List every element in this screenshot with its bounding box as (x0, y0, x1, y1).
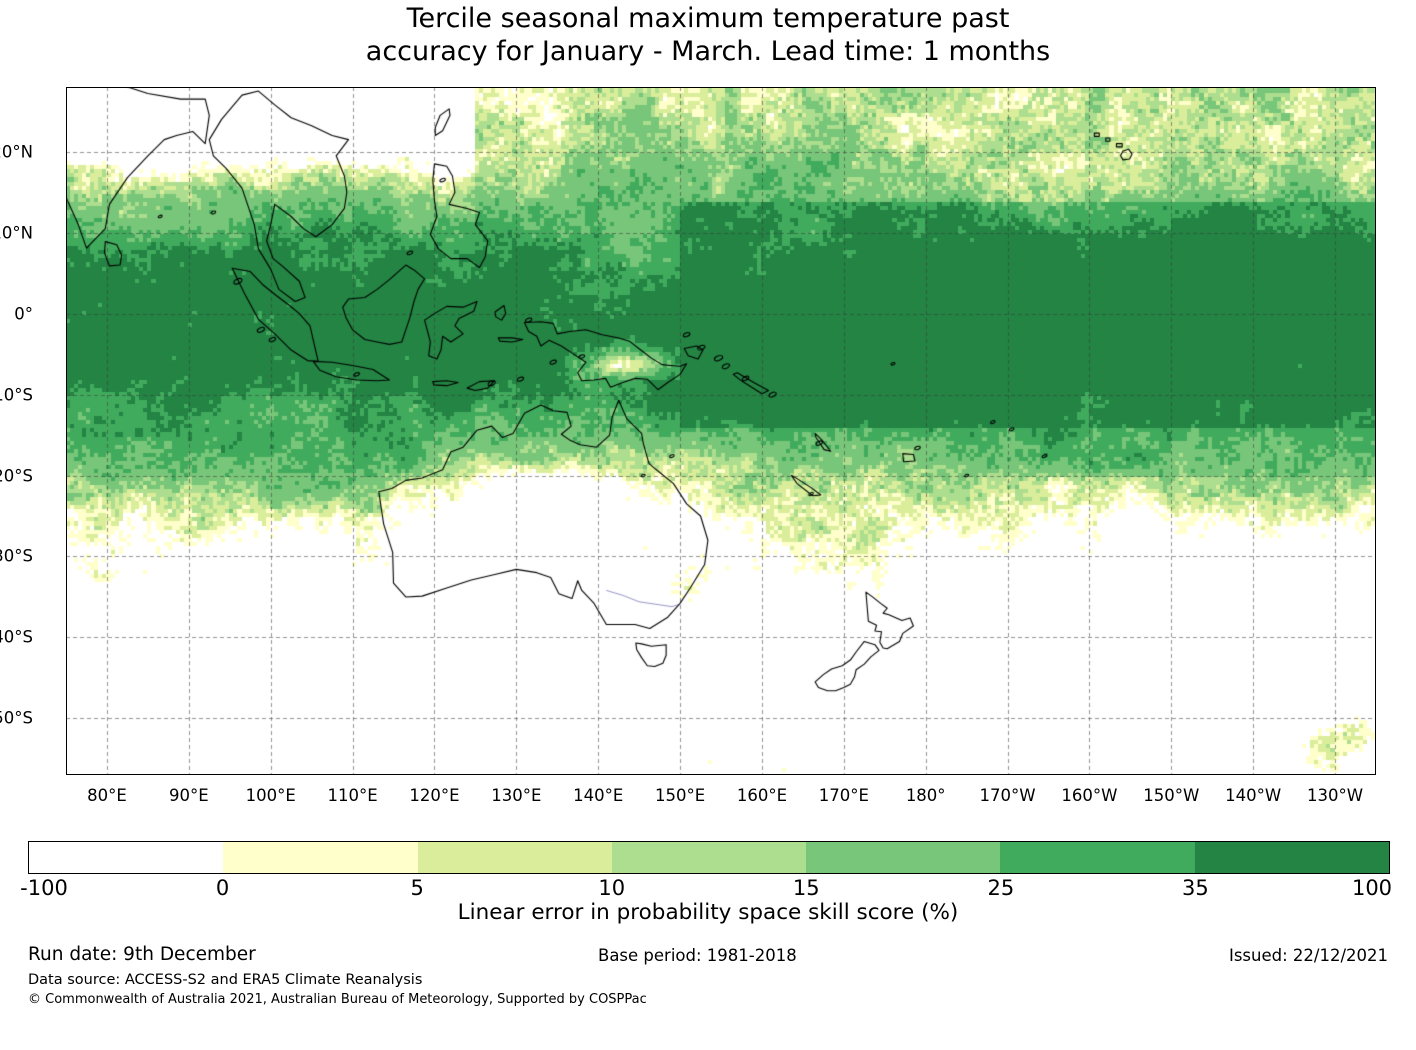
colorbar-band (223, 842, 417, 873)
map-plot-area (66, 87, 1376, 775)
colorbar-band (1195, 842, 1389, 873)
colorbar (28, 841, 1390, 874)
lon-tick-label: 100°E (246, 786, 296, 805)
lon-tick-label: 160°E (737, 786, 787, 805)
lat-tick-label: 50°S (0, 709, 33, 728)
colorbar-band (612, 842, 806, 873)
colorbar-label: Linear error in probability space skill … (0, 900, 1416, 925)
data-source: Data source: ACCESS-S2 and ERA5 Climate … (28, 972, 422, 988)
lat-tick-label: 10°S (0, 385, 33, 404)
colorbar-tick-label: 10 (598, 876, 625, 900)
lat-tick-label: 20°N (0, 142, 33, 161)
lat-tick-label: 40°S (0, 628, 33, 647)
run-date: Run date: 9th December (28, 944, 256, 965)
skill-score-heatmap (66, 87, 1376, 775)
colorbar-band (418, 842, 612, 873)
lat-tick-label: 30°S (0, 547, 33, 566)
colorbar-tick-label: 35 (1182, 876, 1209, 900)
lon-tick-label: 80°E (87, 786, 127, 805)
colorbar-band (806, 842, 1000, 873)
page-title: Tercile seasonal maximum temperature pas… (0, 2, 1416, 68)
page-title-line1: Tercile seasonal maximum temperature pas… (0, 2, 1416, 35)
colorbar-gradient (28, 841, 1390, 874)
page-title-line2: accuracy for January - March. Lead time:… (0, 35, 1416, 68)
colorbar-tick-label: 0 (216, 876, 229, 900)
lat-tick-label: 0° (14, 304, 33, 323)
lon-tick-label: 130°E (491, 786, 541, 805)
lon-tick-label: 170°W (980, 786, 1036, 805)
colorbar-band (1000, 842, 1194, 873)
base-period: Base period: 1981-2018 (598, 946, 797, 965)
colorbar-tick-label: -100 (20, 876, 68, 900)
lon-tick-label: 130°W (1307, 786, 1363, 805)
lon-tick-label: 150°E (655, 786, 705, 805)
lon-tick-label: 110°E (327, 786, 377, 805)
colorbar-tick-label: 100 (1352, 876, 1392, 900)
lon-tick-label: 140°W (1225, 786, 1281, 805)
lat-tick-label: 20°S (0, 466, 33, 485)
copyright-notice: © Commonwealth of Australia 2021, Austra… (28, 992, 647, 1007)
colorbar-band (29, 842, 223, 873)
colorbar-tick-label: 15 (793, 876, 820, 900)
issued-date: Issued: 22/12/2021 (1229, 946, 1388, 965)
colorbar-tick-label: 25 (987, 876, 1014, 900)
lon-tick-label: 160°W (1061, 786, 1117, 805)
footer: Run date: 9th December Base period: 1981… (0, 944, 1416, 970)
lat-tick-label: 10°N (0, 223, 33, 242)
lon-tick-label: 140°E (573, 786, 623, 805)
lon-tick-label: 170°E (819, 786, 869, 805)
lon-tick-label: 120°E (409, 786, 459, 805)
lon-tick-label: 180° (906, 786, 946, 805)
colorbar-tick-label: 5 (410, 876, 423, 900)
lon-tick-label: 90°E (169, 786, 209, 805)
lon-tick-label: 150°W (1143, 786, 1199, 805)
